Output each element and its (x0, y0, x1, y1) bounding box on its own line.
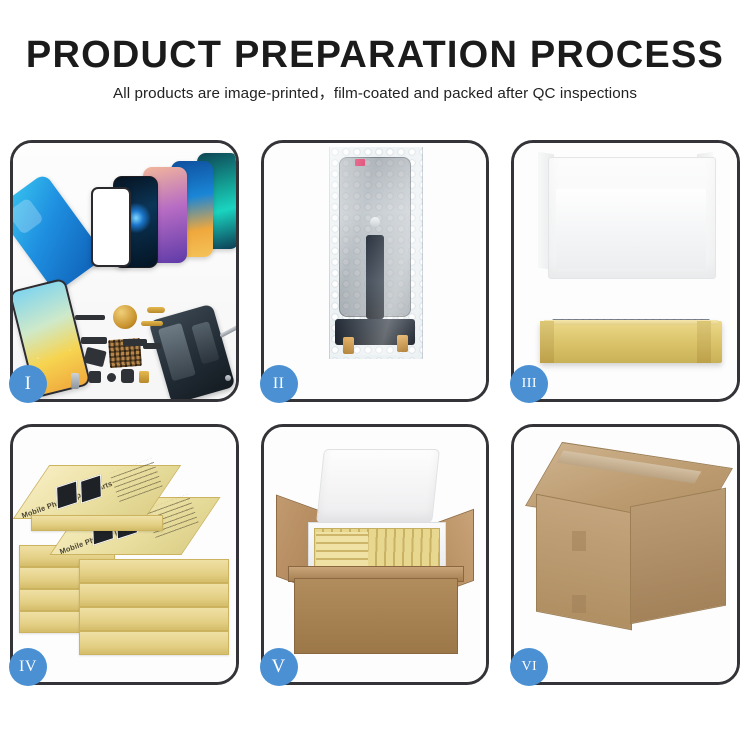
phone-white-bezel (91, 187, 131, 267)
step-5-image (264, 427, 487, 683)
step-numeral-4: IV (19, 658, 37, 676)
step-numeral-1: I (25, 373, 32, 395)
step-badge-4: IV (9, 648, 47, 686)
process-step-card-2[interactable]: II (261, 140, 490, 402)
page-subtitle: All products are image-printed，film-coat… (0, 76, 750, 104)
step-4-image: Mobile Phone Spare Parts Mobile Phone Sp… (13, 427, 236, 683)
styrofoam-lid (316, 449, 440, 523)
step-badge-2: II (260, 365, 298, 403)
process-step-card-4[interactable]: Mobile Phone Spare Parts Mobile Phone Sp… (10, 424, 239, 686)
step-badge-5: V (260, 648, 298, 686)
step-6-image (514, 427, 737, 683)
part-flex-gold-1 (147, 307, 165, 313)
part-connector-strip (81, 337, 107, 344)
packed-yellow-boxes-stack (316, 532, 368, 566)
part-earpiece-mesh (75, 315, 105, 320)
process-step-card-5[interactable]: V (261, 424, 490, 686)
camera-hole (370, 217, 380, 227)
process-step-grid: I II (10, 140, 740, 685)
step-numeral-5: V (272, 656, 286, 678)
step-numeral-3: III (522, 376, 538, 392)
screen-flex-cable (366, 235, 384, 319)
process-step-card-1[interactable]: I (10, 140, 239, 402)
part-sim-tray (139, 371, 149, 383)
step-badge-3: III (510, 365, 548, 403)
carton-seam-upper (572, 531, 586, 551)
process-step-card-6[interactable]: VI (511, 424, 740, 686)
step-3-image (514, 143, 737, 399)
part-flex-cable-3 (143, 343, 161, 349)
foam-sheet (556, 189, 706, 269)
part-speaker-coil (113, 305, 137, 329)
part-camera-module (89, 371, 101, 383)
step-1-image (13, 143, 236, 399)
yellow-box-tray (540, 321, 722, 363)
carton-body (294, 578, 458, 654)
part-button (107, 373, 116, 382)
page-title: PRODUCT PREPARATION PROCESS (0, 0, 750, 76)
part-flex-gold-2 (141, 321, 163, 326)
step-numeral-2: II (273, 375, 285, 393)
part-sim-pin (71, 373, 79, 389)
tray-corner-right (697, 321, 711, 363)
pink-qc-sticker (355, 159, 365, 166)
gold-connector-right (397, 335, 408, 352)
carton-seam-lower (572, 595, 586, 613)
carton-side-face (630, 487, 726, 624)
gold-connector-left (343, 337, 354, 354)
step-2-image (264, 143, 487, 399)
part-screw-2 (235, 381, 236, 387)
tray-corner-left (540, 321, 554, 363)
step-numeral-6: VI (521, 659, 537, 675)
page-header: PRODUCT PREPARATION PROCESS All products… (0, 0, 750, 104)
step-badge-1: I (9, 365, 47, 403)
part-vibrator (121, 369, 134, 383)
part-screw-1 (225, 375, 231, 381)
process-step-card-3[interactable]: III (511, 140, 740, 402)
